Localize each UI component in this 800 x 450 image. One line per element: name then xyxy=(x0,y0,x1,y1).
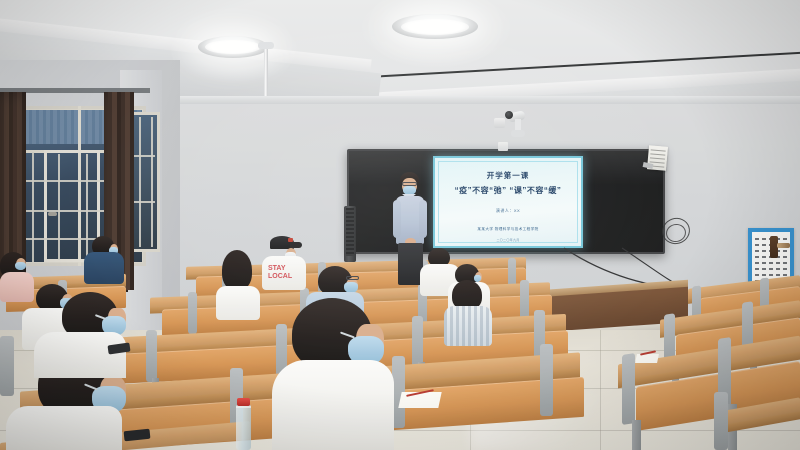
security-camera-lens-icon xyxy=(505,111,513,119)
speaker-mesh xyxy=(346,208,354,256)
cap-logo-icon xyxy=(288,238,293,242)
slide-org-line: 某某大学 物理科学与技术工程学院 xyxy=(477,227,538,232)
camera-wall-plate xyxy=(494,118,505,128)
student-glasses-icon xyxy=(346,276,359,280)
student-mask-icon xyxy=(474,275,481,282)
door-lever-icon[interactable] xyxy=(777,243,790,248)
paper-foreground xyxy=(398,392,441,408)
wall-switch[interactable] xyxy=(498,142,508,151)
paper-on-desk xyxy=(635,354,659,363)
ceiling-lamp-right xyxy=(392,14,478,39)
svg-text:STAY: STAY xyxy=(268,265,286,272)
slide-presenter-line: 演讲人：XX xyxy=(496,208,520,214)
window-grid-v2 xyxy=(58,154,60,260)
classroom-photo: 开学第一课 “疫”不容“弛” “课”不容“缓” 演讲人：XX 某某大学 物理科学… xyxy=(0,0,800,450)
tshirt-graphic: STAY LOCAL xyxy=(268,262,298,280)
svg-text:LOCAL: LOCAL xyxy=(268,273,293,280)
wall-top-trim xyxy=(140,96,800,104)
projected-slide: 开学第一课 “疫”不容“弛” “课”不容“缓” 演讲人：XX 某某大学 物理科学… xyxy=(433,156,583,248)
student-mask-icon xyxy=(15,262,26,270)
water-bottle-cap xyxy=(237,398,250,406)
ceiling-rod-cap xyxy=(258,42,274,49)
slide-footer-line: 二〇二〇年九月 xyxy=(496,238,519,242)
presenter-mask-icon xyxy=(403,186,416,195)
slide-subtitle: “疫”不容“弛” “课”不容“缓” xyxy=(455,185,562,196)
presenter-arm-right xyxy=(419,200,427,238)
presenter-arm-left xyxy=(393,200,401,238)
camera-mount xyxy=(511,130,525,137)
water-bottle xyxy=(236,404,251,450)
window-grid-v3 xyxy=(86,154,88,260)
window-grid-v1 xyxy=(32,152,34,262)
slide-title: 开学第一课 xyxy=(487,170,530,181)
window-handle[interactable] xyxy=(48,212,57,216)
water-bottle-ring xyxy=(236,406,251,408)
speaker-tower xyxy=(344,206,356,262)
slide-content: 开学第一课 “疫”不容“弛” “课”不容“缓” 演讲人：XX 某某大学 物理科学… xyxy=(438,161,578,243)
